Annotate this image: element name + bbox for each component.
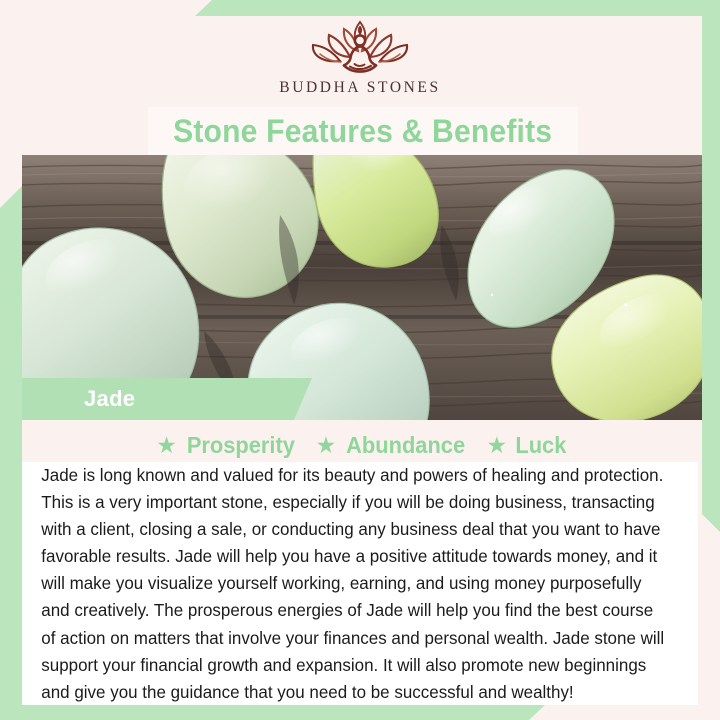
description-text: Jade is long known and valued for its be…	[22, 462, 674, 706]
brand-name: BUDDHA STONES	[279, 79, 440, 97]
keyword-abundance: ★ Abundance	[316, 432, 469, 459]
keyword-label: Luck	[515, 432, 566, 459]
lotus-meditation-icon	[296, 16, 424, 78]
keyword-row: ★ Prosperity ★ Abundance ★ Luck	[22, 428, 702, 462]
stone-name-banner: Jade	[22, 378, 312, 420]
decorative-band-top	[195, 0, 720, 16]
star-icon: ★	[156, 434, 177, 457]
title-band: Stone Features & Benefits	[148, 107, 578, 155]
stone-name-label: Jade	[22, 386, 135, 412]
star-icon: ★	[316, 434, 337, 457]
decorative-band-left	[0, 186, 22, 704]
description-panel: Jade is long known and valued for its be…	[22, 462, 698, 705]
keyword-label: Abundance	[346, 432, 465, 459]
page-title: Stone Features & Benefits	[173, 113, 552, 150]
brand-header: BUDDHA STONES	[0, 16, 720, 106]
decorative-band-bottom	[0, 704, 546, 720]
keyword-label: Prosperity	[187, 432, 295, 459]
keyword-prosperity: ★ Prosperity	[156, 432, 297, 459]
star-icon: ★	[486, 434, 507, 457]
stone-info-card: BUDDHA STONES Stone Features & Benefits	[0, 0, 720, 720]
stone-photo: Jade	[22, 155, 702, 420]
keyword-luck: ★ Luck	[486, 432, 567, 459]
